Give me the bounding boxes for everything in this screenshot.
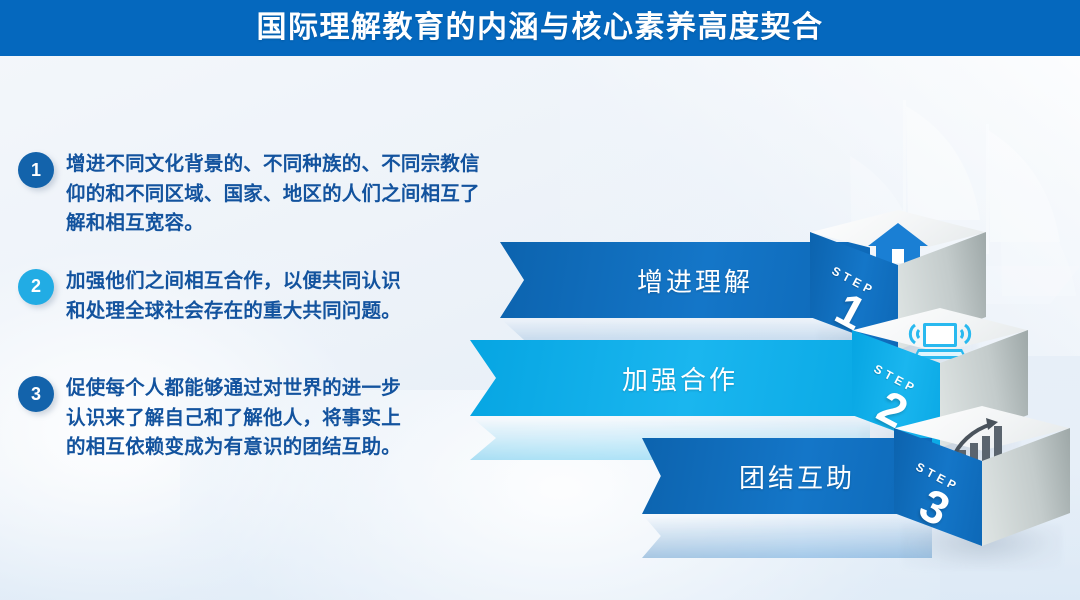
bullet-text: 增进不同文化背景的、不同种族的、不同宗教信 仰的和不同区域、国家、地区的人们之间… — [66, 150, 480, 239]
bullet-number-badge: 1 — [18, 152, 54, 188]
list-item: 2 加强他们之间相互合作，以便共同认识 和处理全球社会存在的重大共同问题。 — [18, 267, 538, 326]
list-item: 3 促使每个人都能够通过对世界的进一步 认识来了解自己和了解他人，将事实上 的相… — [18, 374, 538, 463]
step-diagram: 增进理解 STEP 1 — [470, 150, 1080, 580]
bullet-number-badge: 3 — [18, 376, 54, 412]
slide-canvas: 国际理解教育的内涵与核心素养高度契合 1 增进不同文化背景的、不同种族的、不同宗… — [0, 0, 1080, 600]
slide-header-bar: 国际理解教育的内涵与核心素养高度契合 — [0, 0, 1080, 56]
list-item: 1 增进不同文化背景的、不同种族的、不同宗教信 仰的和不同区域、国家、地区的人们… — [18, 150, 538, 239]
step-cube-3: STEP 3 — [894, 406, 1070, 576]
bullet-list: 1 增进不同文化背景的、不同种族的、不同宗教信 仰的和不同区域、国家、地区的人们… — [18, 150, 538, 491]
step-arrow-label: 加强合作 — [622, 360, 738, 397]
step-arrow-label: 团结互助 — [739, 458, 855, 495]
bullet-number-badge: 2 — [18, 269, 54, 305]
step-arrow-3: 团结互助 — [642, 438, 932, 514]
bullet-text: 加强他们之间相互合作，以便共同认识 和处理全球社会存在的重大共同问题。 — [66, 267, 401, 326]
bullet-text: 促使每个人都能够通过对世界的进一步 认识来了解自己和了解他人，将事实上 的相互依… — [66, 374, 401, 463]
step-arrow-label: 增进理解 — [637, 262, 753, 299]
step-row-3: 团结互助 STEP 3 — [470, 396, 1080, 546]
step-arrow-3-reflection — [642, 514, 932, 558]
page-title: 国际理解教育的内涵与核心素养高度契合 — [257, 13, 824, 43]
